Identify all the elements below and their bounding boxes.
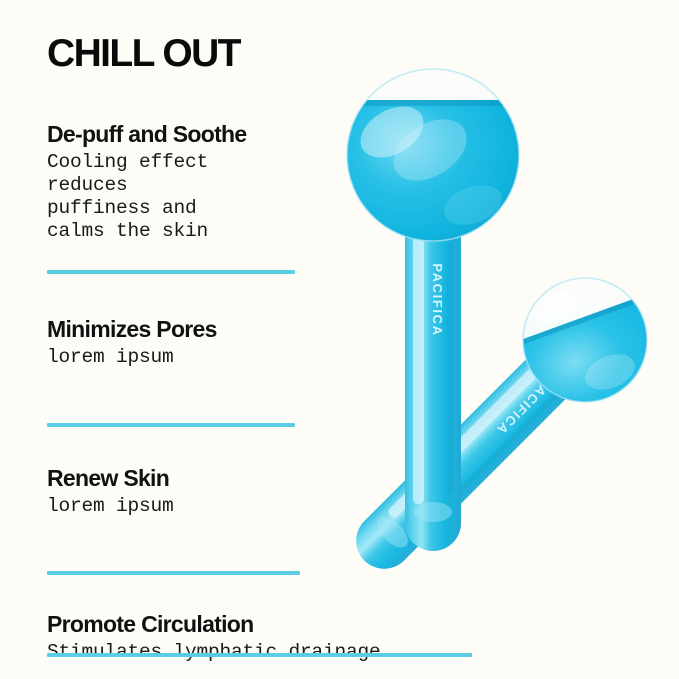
feature-block-minimizes-pores: Minimizes Pores lorem ipsum: [47, 317, 217, 369]
infographic-canvas: PACIFICA: [0, 0, 679, 679]
feature-heading: De-puff and Soothe: [47, 122, 247, 148]
feature-divider: [47, 571, 300, 575]
ice-globe-diagonal: PACIFICA: [342, 305, 620, 583]
feature-body: lorem ipsum: [47, 495, 174, 518]
feature-body: Cooling effect reduces puffiness and cal…: [47, 151, 247, 243]
page-title: CHILL OUT: [47, 34, 517, 73]
globe-head-diagonal: [507, 278, 679, 467]
brand-label-vertical: PACIFICA: [430, 263, 445, 336]
feature-divider: [47, 653, 472, 657]
feature-block-renew-skin: Renew Skin lorem ipsum: [47, 466, 174, 518]
feature-text-column: CHILL OUT De-puff and Soothe Cooling eff…: [47, 34, 517, 119]
brand-label-diagonal: PACIFICA: [493, 376, 555, 438]
feature-heading: Promote Circulation: [47, 612, 381, 638]
feature-heading: Renew Skin: [47, 466, 174, 492]
feature-body: lorem ipsum: [47, 346, 217, 369]
ice-globe-vertical: PACIFICA: [399, 204, 467, 551]
feature-divider: [47, 423, 295, 427]
feature-divider: [47, 270, 295, 274]
feature-block-de-puff-and-soothe: De-puff and Soothe Cooling effect reduce…: [47, 122, 247, 243]
feature-heading: Minimizes Pores: [47, 317, 217, 343]
